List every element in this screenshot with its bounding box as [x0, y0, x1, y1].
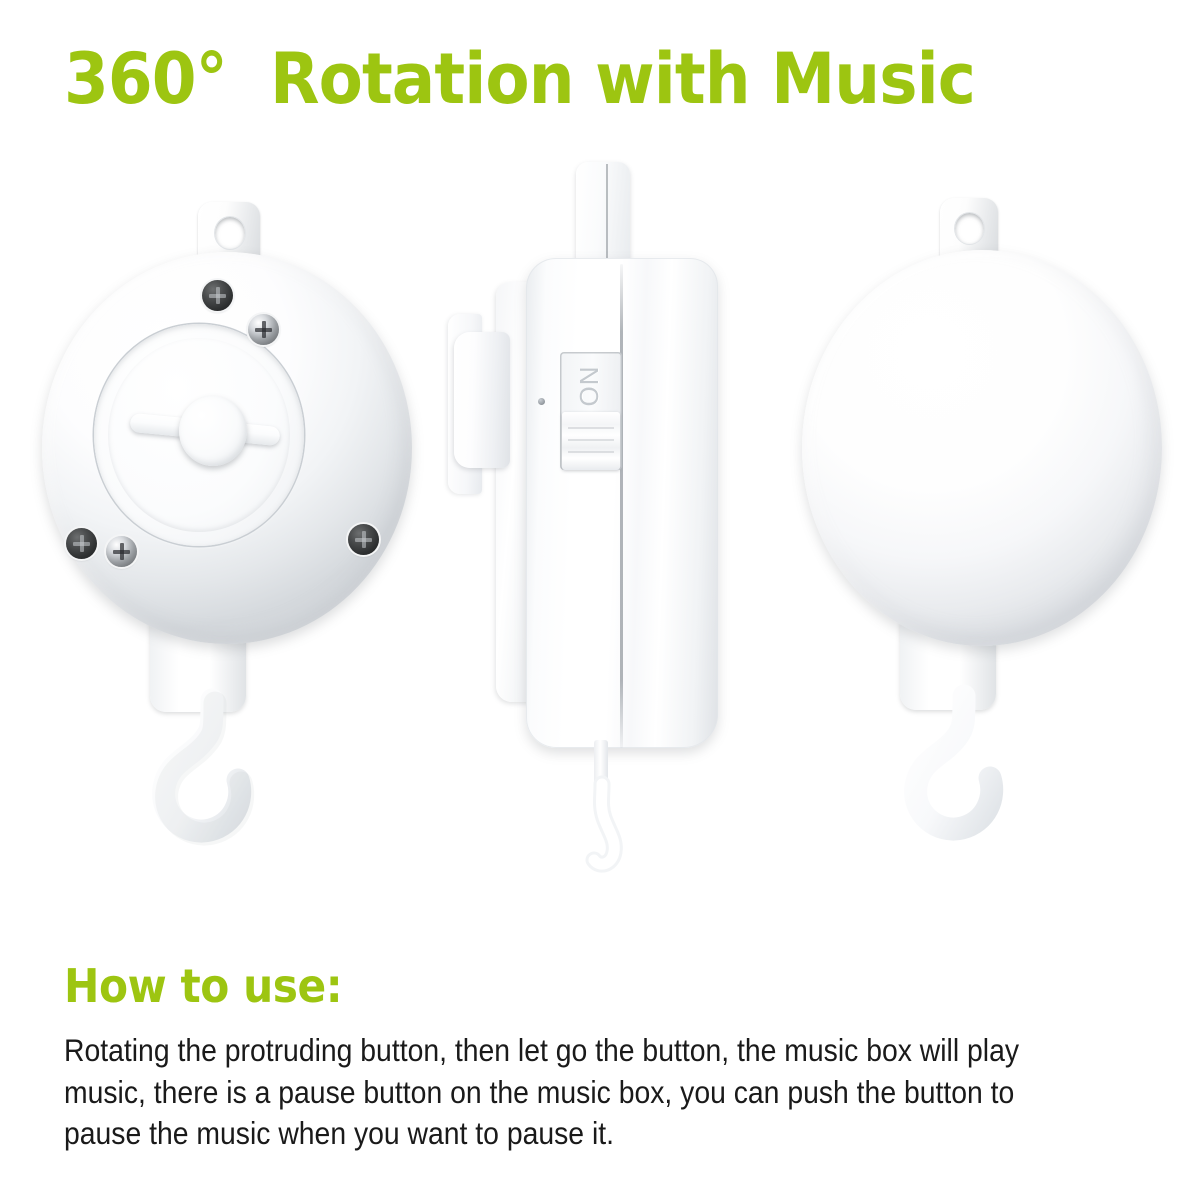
power-switch-on-label: ON: [565, 355, 613, 417]
power-slider-switch[interactable]: [562, 412, 620, 470]
page-title: 360° Rotation with Music: [64, 44, 975, 114]
housing-seam-line: [620, 264, 623, 748]
mobile-hanging-hook: [576, 780, 646, 872]
housing-vent-dot: [538, 398, 545, 405]
mobile-hanging-hook: [888, 692, 1028, 844]
hanging-loop-hole: [954, 212, 985, 245]
screw-top: [202, 280, 233, 311]
hanging-loop-hole: [214, 216, 246, 250]
instructions-paragraph: Rotating the protruding button, then let…: [64, 1030, 1036, 1155]
rotating-protruding-button[interactable]: [454, 332, 510, 468]
product-image-stage: ON: [0, 140, 1200, 870]
mobile-hanging-hook: [138, 696, 278, 846]
screw-lower-right: [348, 524, 379, 555]
back-housing-disc: [802, 250, 1162, 646]
product-view-back: [760, 140, 1190, 870]
screw-lower-left: [66, 528, 97, 559]
product-view-side: ON: [430, 140, 790, 870]
front-housing-disc: [42, 252, 412, 644]
product-view-front: [20, 140, 440, 870]
rotating-protruding-button[interactable]: [179, 396, 247, 466]
screw-upper-right: [248, 314, 279, 345]
instructions-heading: How to use:: [64, 963, 342, 1009]
screw-lower-left-inner: [106, 536, 137, 567]
